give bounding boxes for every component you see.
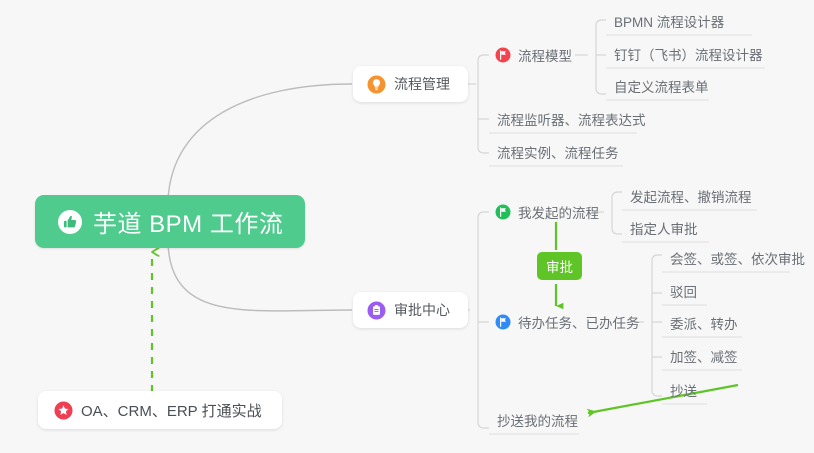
- node-start-cancel-label: 发起流程、撤销流程: [630, 186, 752, 206]
- branch-approval-center-label: 审批中心: [394, 300, 450, 320]
- branch-approval-center[interactable]: 审批中心: [353, 292, 468, 328]
- node-listener-expression-label: 流程监听器、流程表达式: [497, 109, 646, 129]
- node-listener-expression[interactable]: 流程监听器、流程表达式: [489, 104, 656, 134]
- node-countersign-label: 会签、或签、依次审批: [670, 248, 805, 268]
- node-dingtalk-feishu-designer-label: 钉钉（飞书）流程设计器: [614, 44, 763, 64]
- node-instance-task-label: 流程实例、流程任务: [497, 142, 619, 162]
- integration-note-node[interactable]: OA、CRM、ERP 打通实战: [38, 391, 282, 429]
- node-cc[interactable]: 抄送: [662, 375, 707, 405]
- node-add-remove-sign[interactable]: 加签、减签: [662, 341, 748, 371]
- flag-blue-icon: [495, 314, 511, 330]
- node-reject[interactable]: 驳回: [662, 276, 707, 306]
- node-assignee-approval-label: 指定人审批: [630, 218, 698, 238]
- approval-tag[interactable]: 审批: [537, 252, 582, 280]
- node-custom-process-form-label: 自定义流程表单: [614, 76, 709, 96]
- lightbulb-icon: [367, 75, 386, 94]
- node-instance-task[interactable]: 流程实例、流程任务: [489, 137, 629, 167]
- mindmap-canvas: 芋道 BPM 工作流 OA、CRM、ERP 打通实战 流程管理: [0, 0, 814, 453]
- node-my-initiated-label: 我发起的流程: [518, 202, 599, 222]
- thumbs-up-icon: [57, 209, 83, 235]
- node-custom-process-form[interactable]: 自定义流程表单: [606, 71, 719, 101]
- root-node[interactable]: 芋道 BPM 工作流: [35, 195, 305, 248]
- approval-tag-label: 审批: [546, 256, 573, 276]
- star-icon: [54, 401, 73, 420]
- root-label: 芋道 BPM 工作流: [93, 204, 283, 239]
- node-countersign[interactable]: 会签、或签、依次审批: [662, 243, 814, 273]
- node-assignee-approval[interactable]: 指定人审批: [622, 213, 708, 243]
- node-start-cancel[interactable]: 发起流程、撤销流程: [622, 181, 762, 211]
- node-bpmn-designer-label: BPMN 流程设计器: [614, 11, 724, 31]
- node-cc-to-me[interactable]: 抄送我的流程: [489, 405, 588, 435]
- node-add-remove-sign-label: 加签、减签: [670, 346, 738, 366]
- flag-green-icon: [495, 204, 511, 220]
- node-bpmn-designer[interactable]: BPMN 流程设计器: [606, 6, 734, 36]
- node-todo-done[interactable]: 待办任务、已办任务: [489, 307, 650, 337]
- node-todo-done-label: 待办任务、已办任务: [518, 312, 640, 332]
- integration-note-label: OA、CRM、ERP 打通实战: [81, 400, 262, 421]
- flag-red-icon: [495, 47, 511, 63]
- node-process-model[interactable]: 流程模型: [489, 40, 582, 70]
- clipboard-icon: [367, 301, 386, 320]
- branch-process-management-label: 流程管理: [394, 74, 450, 94]
- node-dingtalk-feishu-designer[interactable]: 钉钉（飞书）流程设计器: [606, 39, 773, 69]
- node-reject-label: 驳回: [670, 281, 697, 301]
- node-cc-label: 抄送: [670, 380, 697, 400]
- node-my-initiated[interactable]: 我发起的流程: [489, 197, 609, 227]
- node-process-model-label: 流程模型: [518, 45, 572, 65]
- branch-process-management[interactable]: 流程管理: [353, 66, 468, 102]
- node-delegate-transfer[interactable]: 委派、转办: [662, 308, 748, 338]
- node-delegate-transfer-label: 委派、转办: [670, 313, 738, 333]
- node-cc-to-me-label: 抄送我的流程: [497, 410, 578, 430]
